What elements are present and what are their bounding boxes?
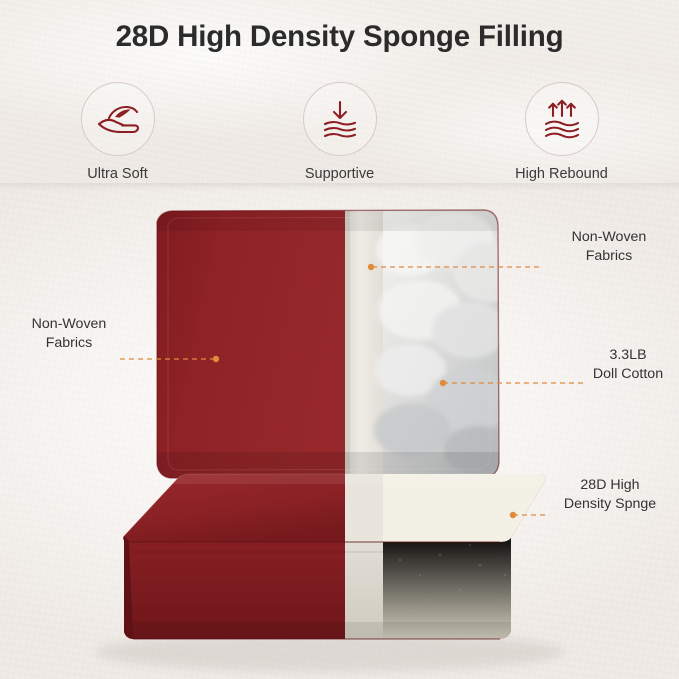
callout-dot-sponge (510, 512, 516, 518)
callout-dot-non-woven-left (213, 356, 219, 362)
callout-doll-cotton: 3.3LB Doll Cotton (580, 346, 676, 383)
callout-dot-doll-cotton (440, 380, 446, 386)
callout-dot-non-woven-right (368, 264, 374, 270)
callout-high-density-sponge: 28D High Density Spnge (546, 476, 674, 513)
back-cushion (150, 205, 522, 485)
product-infographic: 28D High Density Sponge Filling Ultra So… (0, 0, 679, 679)
callout-non-woven-fabrics-left: Non-Woven Fabrics (14, 315, 124, 352)
callout-non-woven-fabrics-right: Non-Woven Fabrics (548, 228, 670, 265)
seat-cushion (110, 468, 560, 645)
